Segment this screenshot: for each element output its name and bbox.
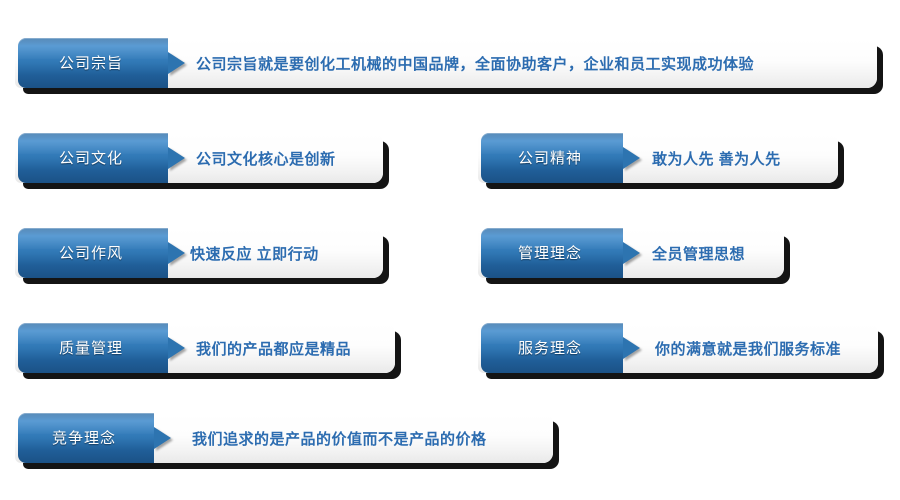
banner-board: 公司宗旨公司宗旨就是要创化工机械的中国品牌，全面协助客户，企业和员工实现成功体验…: [0, 0, 900, 500]
banner-description: 全员管理思想: [652, 228, 745, 278]
banner-item[interactable]: 公司宗旨公司宗旨就是要创化工机械的中国品牌，全面协助客户，企业和员工实现成功体验: [15, 38, 877, 88]
banner-tag-label: 服务理念: [481, 341, 623, 356]
banner-item[interactable]: 质量管理我们的产品都应是精品: [15, 323, 395, 373]
banner-item[interactable]: 管理理念全员管理思想: [478, 228, 784, 278]
banner-description: 快速反应 立即行动: [190, 228, 319, 278]
banner-tag[interactable]: 公司精神: [481, 133, 623, 183]
banner-tag[interactable]: 公司作风: [18, 228, 168, 278]
banner-tag[interactable]: 质量管理: [18, 323, 168, 373]
banner-tag[interactable]: 公司宗旨: [18, 38, 168, 88]
banner-item[interactable]: 公司作风快速反应 立即行动: [15, 228, 383, 278]
arrow-right-icon: [623, 242, 640, 264]
banner-tag-label: 公司宗旨: [18, 56, 168, 71]
banner-description: 我们追求的是产品的价值而不是产品的价格: [192, 413, 487, 463]
banner-description: 公司文化核心是创新: [196, 133, 336, 183]
arrow-right-icon: [168, 337, 185, 359]
banner-item[interactable]: 竞争理念我们追求的是产品的价值而不是产品的价格: [15, 413, 553, 463]
banner-item[interactable]: 服务理念你的满意就是我们服务标准: [478, 323, 878, 373]
banner-tag[interactable]: 管理理念: [481, 228, 623, 278]
banner-description: 公司宗旨就是要创化工机械的中国品牌，全面协助客户，企业和员工实现成功体验: [196, 38, 754, 88]
banner-tag-label: 竞争理念: [18, 431, 154, 446]
arrow-right-icon: [623, 337, 640, 359]
arrow-right-icon: [154, 427, 171, 449]
banner-description: 你的满意就是我们服务标准: [655, 323, 841, 373]
banner-tag-label: 公司精神: [481, 151, 623, 166]
banner-description: 敢为人先 善为人先: [652, 133, 781, 183]
banner-tag-label: 管理理念: [481, 246, 623, 261]
arrow-right-icon: [168, 242, 185, 264]
arrow-right-icon: [168, 52, 185, 74]
banner-tag-label: 公司作风: [18, 246, 168, 261]
arrow-right-icon: [168, 147, 185, 169]
banner-tag[interactable]: 服务理念: [481, 323, 623, 373]
banner-tag[interactable]: 公司文化: [18, 133, 168, 183]
arrow-right-icon: [623, 147, 640, 169]
banner-tag-label: 公司文化: [18, 151, 168, 166]
banner-item[interactable]: 公司文化公司文化核心是创新: [15, 133, 383, 183]
banner-item[interactable]: 公司精神敢为人先 善为人先: [478, 133, 838, 183]
banner-tag[interactable]: 竞争理念: [18, 413, 154, 463]
banner-tag-label: 质量管理: [18, 341, 168, 356]
banner-description: 我们的产品都应是精品: [196, 323, 351, 373]
